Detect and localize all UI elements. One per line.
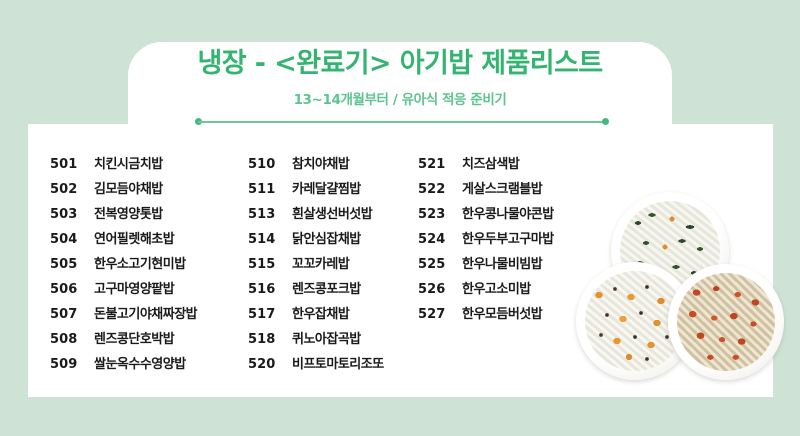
product-list-poster: 냉장 - <완료기> 아기밥 제품리스트 13~14개월부터 / 유아식 적응 … [0,0,800,436]
product-row: 523한우콩나물야콘밥 [418,203,554,228]
product-row: 508렌즈콩단호박밥 [50,328,197,353]
product-row: 526한우고소미밥 [418,278,554,303]
product-code: 505 [50,257,94,272]
product-row: 525한우나물비빔밥 [418,253,554,278]
product-name: 고구마영양팥밥 [94,278,174,297]
product-name: 한우나물비빔밥 [462,253,542,272]
product-code: 516 [248,282,292,297]
product-row: 524한우두부고구마밥 [418,228,554,253]
product-code: 520 [248,357,292,372]
product-name: 렌즈콩단호박밥 [94,328,174,347]
product-name: 치즈삼색밥 [462,153,519,172]
product-code: 525 [418,257,462,272]
product-row: 515꼬꼬카레밥 [248,253,384,278]
product-row: 502김모듬야채밥 [50,178,197,203]
product-name: 한우두부고구마밥 [462,228,554,247]
product-code: 504 [50,232,94,247]
product-name: 퀴노아잡곡밥 [292,328,361,347]
product-row: 504연어필렛해초밥 [50,228,197,253]
product-column-2: 510참치야채밥511카레달걀찜밥513흰살생선버섯밥514닭안심잡채밥515꼬… [248,153,384,378]
product-name: 한우모듬버섯밥 [462,303,542,322]
product-name: 닭안심잡채밥 [292,228,361,247]
product-code: 521 [418,157,462,172]
product-code: 526 [418,282,462,297]
product-code: 502 [50,182,94,197]
product-name: 참치야채밥 [292,153,349,172]
product-name: 한우콩나물야콘밥 [462,203,554,222]
product-name: 김모듬야채밥 [94,178,163,197]
product-code: 513 [248,207,292,222]
product-row: 511카레달걀찜밥 [248,178,384,203]
product-code: 514 [248,232,292,247]
product-code: 523 [418,207,462,222]
product-row: 506고구마영양팥밥 [50,278,197,303]
product-name: 꼬꼬카레밥 [292,253,349,272]
product-code: 506 [50,282,94,297]
product-name: 돈불고기야채짜장밥 [94,303,197,322]
product-row: 527한우모듬버섯밥 [418,303,554,328]
product-name: 연어필렛해초밥 [94,228,174,247]
product-name: 한우잡채밥 [292,303,349,322]
product-code: 501 [50,157,94,172]
product-name: 전복영양톳밥 [94,203,163,222]
product-row: 503전복영양톳밥 [50,203,197,228]
product-name: 흰살생선버섯밥 [292,203,372,222]
product-name: 비프토마토리조또 [292,353,384,372]
beef-tomato-risotto-bowl [668,264,784,380]
product-name: 게살스크램블밥 [462,178,542,197]
product-row: 516렌즈콩포크밥 [248,278,384,303]
product-row: 507돈불고기야채짜장밥 [50,303,197,328]
product-code: 522 [418,182,462,197]
product-row: 509쌀눈옥수수영양밥 [50,353,197,378]
product-code: 510 [248,157,292,172]
product-code: 511 [248,182,292,197]
product-row: 517한우잡채밥 [248,303,384,328]
product-name: 한우소고기현미밥 [94,253,186,272]
product-row: 505한우소고기현미밥 [50,253,197,278]
bowl-food [677,273,775,371]
product-code: 515 [248,257,292,272]
product-row: 510참치야채밥 [248,153,384,178]
product-row: 520비프토마토리조또 [248,353,384,378]
product-code: 518 [248,332,292,347]
product-code: 509 [50,357,94,372]
product-row: 513흰살생선버섯밥 [248,203,384,228]
product-name: 치킨시금치밥 [94,153,163,172]
product-name: 렌즈콩포크밥 [292,278,361,297]
product-row: 522게살스크램블밥 [418,178,554,203]
product-code: 524 [418,232,462,247]
product-row: 521치즈삼색밥 [418,153,554,178]
food-bowls-image [576,192,776,382]
product-name: 카레달걀찜밥 [292,178,361,197]
product-code: 503 [50,207,94,222]
product-row: 518퀴노아잡곡밥 [248,328,384,353]
product-row: 501치킨시금치밥 [50,153,197,178]
product-name: 쌀눈옥수수영양밥 [94,353,186,372]
product-name: 한우고소미밥 [462,278,531,297]
product-column-1: 501치킨시금치밥502김모듬야채밥503전복영양톳밥504연어필렛해초밥505… [50,153,197,378]
product-code: 507 [50,307,94,322]
product-code: 508 [50,332,94,347]
product-code: 527 [418,307,462,322]
product-row: 514닭안심잡채밥 [248,228,384,253]
product-column-3: 521치즈삼색밥522게살스크램블밥523한우콩나물야콘밥524한우두부고구마밥… [418,153,554,328]
product-code: 517 [248,307,292,322]
